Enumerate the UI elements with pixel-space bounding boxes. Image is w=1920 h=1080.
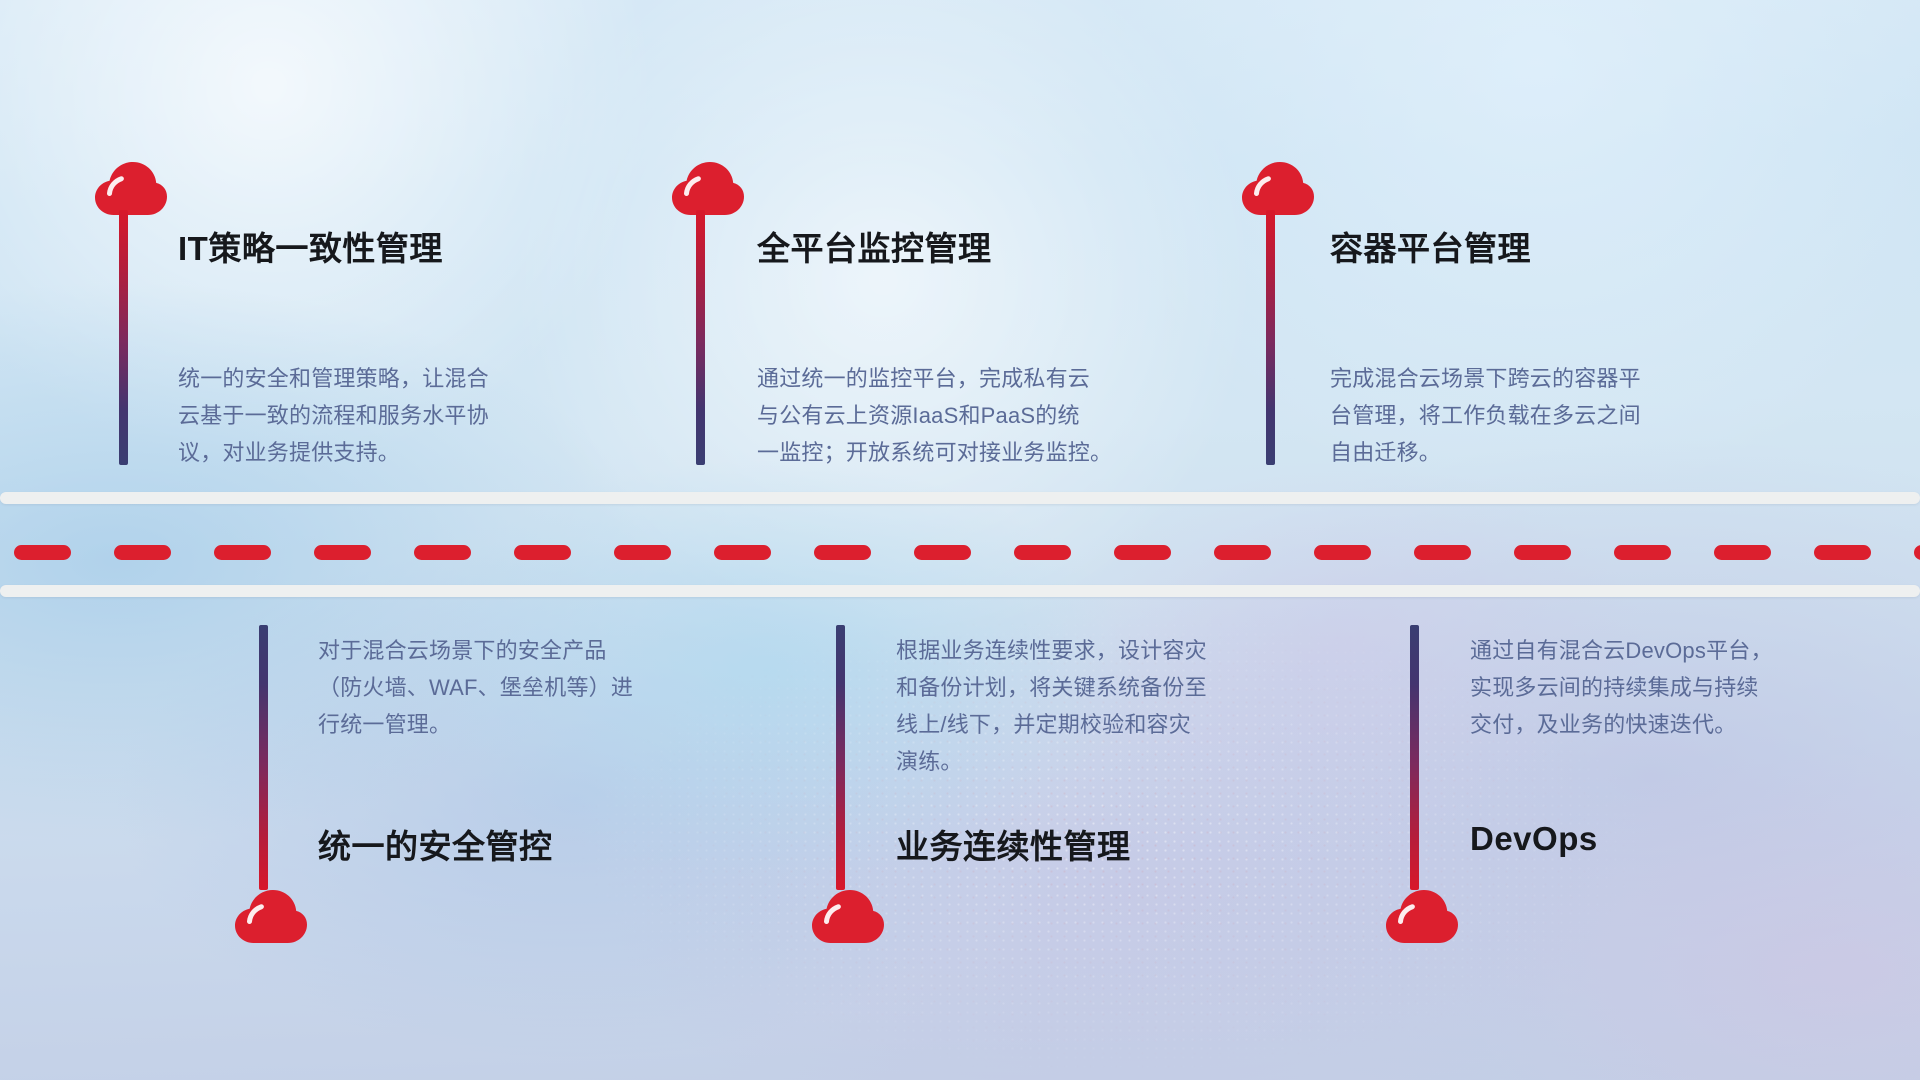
card-heading: DevOps	[1470, 820, 1598, 858]
card-body: 通过自有混合云DevOps平台， 实现多云间的持续集成与持续 交付，及业务的快速…	[1470, 632, 1890, 743]
road-dash-segment	[14, 545, 71, 560]
road-dash-segment	[1414, 545, 1471, 560]
road-dash-segment	[1814, 545, 1871, 560]
road-dash-segment	[1614, 545, 1671, 560]
cloud-icon	[94, 160, 168, 216]
card-body: 通过统一的监控平台，完成私有云 与公有云上资源IaaS和PaaS的统 一监控；开…	[757, 360, 1197, 471]
road-dashed-line	[0, 545, 1920, 560]
cloud-icon	[1385, 888, 1459, 944]
connector-stem	[836, 625, 845, 890]
road-dash-segment	[1014, 545, 1071, 560]
card-heading: 全平台监控管理	[757, 222, 992, 270]
road-dash-segment	[714, 545, 771, 560]
road-edge-bottom	[0, 585, 1920, 597]
card-body: 完成混合云场景下跨云的容器平 台管理，将工作负载在多云之间 自由迁移。	[1330, 360, 1760, 471]
road-dash-segment	[1914, 545, 1920, 560]
road-dash-segment	[414, 545, 471, 560]
road-edge-top	[0, 492, 1920, 504]
card-heading: 统一的安全管控	[318, 820, 553, 868]
card-heading: 业务连续性管理	[896, 820, 1131, 868]
road-dash-segment	[1314, 545, 1371, 560]
road-dash-segment	[314, 545, 371, 560]
road-dash-segment	[1514, 545, 1571, 560]
cloud-icon	[811, 888, 885, 944]
infographic-canvas: IT策略一致性管理 统一的安全和管理策略，让混合 云基于一致的流程和服务水平协 …	[0, 0, 1920, 1080]
connector-stem	[696, 210, 705, 465]
cloud-icon	[671, 160, 745, 216]
cloud-icon	[1241, 160, 1315, 216]
road-dash-segment	[214, 545, 271, 560]
road-dash-segment	[1714, 545, 1771, 560]
connector-stem	[259, 625, 268, 890]
road-dash-segment	[1214, 545, 1271, 560]
connector-stem	[1266, 210, 1275, 465]
connector-stem	[1410, 625, 1419, 890]
road-dash-segment	[614, 545, 671, 560]
card-body: 对于混合云场景下的安全产品 （防火墙、WAF、堡垒机等）进 行统一管理。	[318, 632, 748, 743]
road-dash-segment	[514, 545, 571, 560]
road-dash-segment	[1114, 545, 1171, 560]
road-dash-segment	[814, 545, 871, 560]
connector-stem	[119, 210, 128, 465]
cloud-icon	[234, 888, 308, 944]
card-body: 根据业务连续性要求，设计容灾 和备份计划，将关键系统备份至 线上/线下，并定期校…	[896, 632, 1326, 780]
road-dash-segment	[914, 545, 971, 560]
road-dash-segment	[114, 545, 171, 560]
card-heading: 容器平台管理	[1330, 222, 1531, 270]
card-heading: IT策略一致性管理	[178, 222, 443, 270]
card-body: 统一的安全和管理策略，让混合 云基于一致的流程和服务水平协 议，对业务提供支持。	[178, 360, 608, 471]
